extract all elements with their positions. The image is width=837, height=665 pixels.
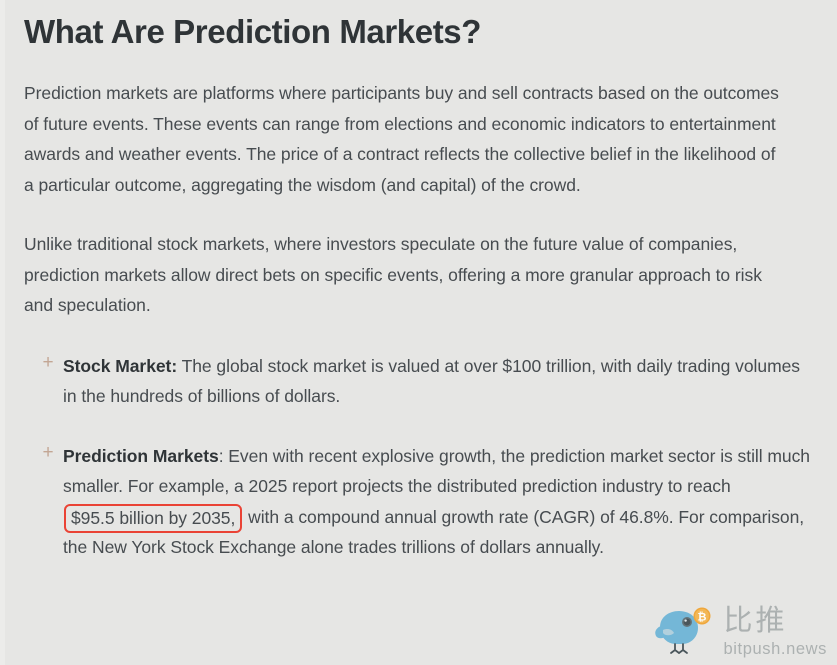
intro-paragraph: Prediction markets are platforms where p… (24, 78, 784, 200)
article-body: What Are Prediction Markets? Prediction … (24, 0, 814, 665)
bullet-lead-stock-market: Stock Market: (63, 356, 177, 376)
document-page: What Are Prediction Markets? Prediction … (0, 0, 837, 665)
page-title: What Are Prediction Markets? (24, 0, 814, 52)
plus-icon: + (40, 352, 56, 374)
comparison-bullet-list: + Stock Market: The global stock market … (24, 351, 814, 563)
watermark-url: bitpush.news (723, 641, 827, 658)
plus-icon: + (40, 442, 56, 464)
svg-text:₿: ₿ (698, 611, 707, 624)
highlighted-figure: $95.5 billion by 2035, (64, 504, 242, 533)
watermark-brand-cn: 比推 (723, 606, 787, 635)
left-gutter (0, 0, 5, 665)
list-item: + Stock Market: The global stock market … (24, 351, 814, 412)
comparison-paragraph: Unlike traditional stock markets, where … (24, 229, 779, 321)
list-item: + Prediction Markets: Even with recent e… (24, 441, 814, 563)
watermark-text-block: 比推 bitpush.news (723, 606, 827, 658)
bullet-lead-prediction-markets: Prediction Markets (63, 446, 219, 466)
bird-logo-icon: ₿ (654, 606, 712, 656)
watermark-bitpush: ₿ 比推 bitpush.news (654, 606, 827, 658)
